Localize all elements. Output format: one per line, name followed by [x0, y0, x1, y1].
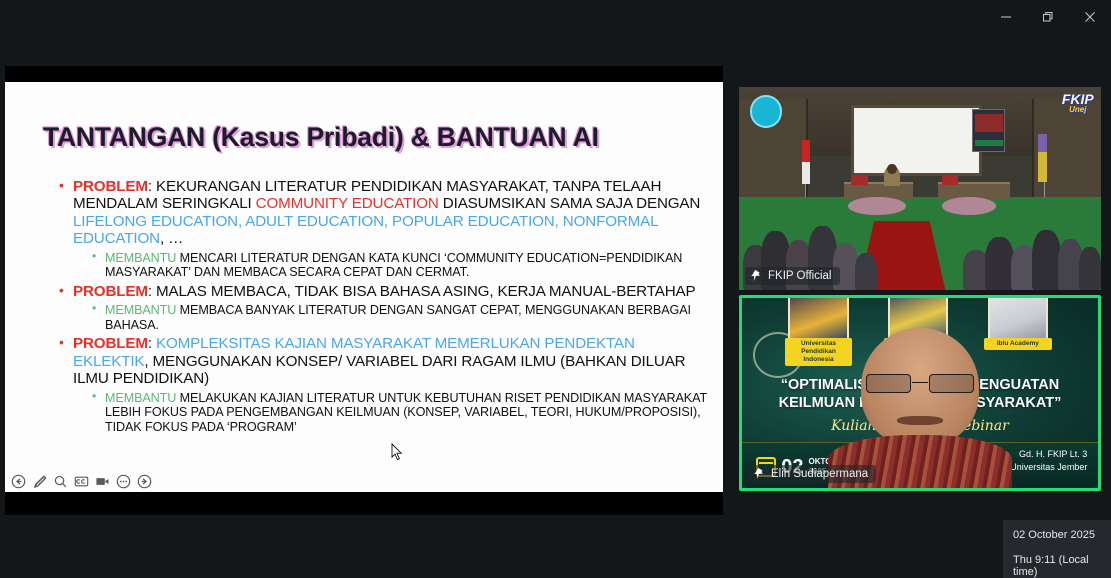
- bullet-text: : MALAS MEMBACA, TIDAK BISA BAHASA ASING…: [148, 283, 696, 300]
- bullet-text: MELAKUKAN KAJIAN LITERATUR UNTUK KEBUTUH…: [105, 391, 707, 434]
- window-title-bar: [0, 0, 1111, 33]
- close-icon: [1084, 11, 1096, 23]
- closed-caption-icon[interactable]: [73, 473, 89, 489]
- participant-name: Elih Sudiapermana: [771, 468, 868, 480]
- bullet-text: MENCARI LITERATUR DENGAN KATA KUNCI ‘COM…: [105, 251, 682, 279]
- speaker-person: [838, 298, 1002, 488]
- video-icon[interactable]: [94, 473, 110, 489]
- bullet-text: , …: [160, 230, 183, 247]
- close-button[interactable]: [1069, 0, 1111, 33]
- previous-slide-icon[interactable]: [10, 473, 26, 489]
- magnifier-icon[interactable]: [52, 473, 68, 489]
- slide-toolbar[interactable]: [10, 473, 152, 489]
- fkip-watermark-logo: FKIP Unej: [1062, 93, 1094, 113]
- bullet-text: DIASUMSIKAN SAMA SAJA DENGAN: [439, 195, 701, 212]
- participant-name: FKIP Official: [768, 270, 832, 282]
- slide-title: TANTANGAN (Kasus Pribadi) & BANTUAN AI: [43, 122, 703, 153]
- video-frame-lecture-hall: FKIP Unej: [739, 87, 1101, 290]
- keyword-membantu: MEMBANTU: [105, 303, 176, 317]
- channel-round-logo: [750, 95, 783, 127]
- keyword-membantu: MEMBANTU: [105, 251, 176, 265]
- pin-icon: [754, 467, 765, 480]
- slide-body: PROBLEM: KEKURANGAN LITERATUR PENDIDIKAN…: [57, 178, 707, 437]
- bullet-text: , MENGGUNAKAN KONSEP/ VARIABEL DARI RAGA…: [73, 353, 686, 387]
- restore-icon: [1042, 11, 1054, 23]
- clock-time: Thu 9:11 (Local time): [1013, 554, 1101, 578]
- pen-icon[interactable]: [31, 473, 47, 489]
- more-options-icon[interactable]: [115, 473, 131, 489]
- highlight-community-education: COMMUNITY EDUCATION: [256, 195, 439, 212]
- video-tile-elih-sudiapermana[interactable]: Universitas Pendidikan Indonesia Univers…: [739, 295, 1101, 491]
- keyword-problem: PROBLEM: [73, 335, 148, 352]
- participant-name-badge: FKIP Official: [745, 267, 840, 285]
- local-time-widget: 02 October 2025 Thu 9:11 (Local time): [1003, 520, 1111, 578]
- keyword-problem: PROBLEM: [73, 178, 148, 195]
- bullet-level2: MEMBANTU MELAKUKAN KAJIAN LITERATUR UNTU…: [91, 391, 707, 434]
- bullet-text: :: [148, 335, 156, 352]
- minimize-button[interactable]: [985, 0, 1027, 33]
- pin-icon: [751, 269, 762, 282]
- shared-screen-stage[interactable]: TANTANGAN (Kasus Pribadi) & BANTUAN AI P…: [5, 66, 723, 515]
- keyword-membantu: MEMBANTU: [105, 391, 176, 405]
- bullet-text: MEMBACA BANYAK LITERATUR DENGAN SANGAT C…: [105, 303, 691, 331]
- bullet-level2: MEMBANTU MEMBACA BANYAK LITERATUR DENGAN…: [91, 303, 707, 332]
- bullet-level2: MEMBANTU MENCARI LITERATUR DENGAN KATA K…: [91, 251, 707, 280]
- presentation-slide[interactable]: TANTANGAN (Kasus Pribadi) & BANTUAN AI P…: [5, 82, 723, 492]
- next-slide-icon[interactable]: [136, 473, 152, 489]
- poster-venue: Gd. H. FKIP Lt. 3 Universitas Jember: [1010, 448, 1087, 475]
- clock-date: 02 October 2025: [1013, 529, 1101, 541]
- bullet-level1: PROBLEM: MALAS MEMBACA, TIDAK BISA BAHAS…: [57, 283, 707, 300]
- restore-button[interactable]: [1027, 0, 1069, 33]
- keyword-problem: PROBLEM: [73, 283, 148, 300]
- video-frame-virtual-background: Universitas Pendidikan Indonesia Univers…: [742, 298, 1098, 488]
- video-tile-fkip-official[interactable]: FKIP Unej FKIP Official: [739, 87, 1101, 290]
- meeting-window: TANTANGAN (Kasus Pribadi) & BANTUAN AI P…: [0, 0, 1111, 578]
- bullet-level1: PROBLEM: KOMPLEKSITAS KAJIAN MASYARAKAT …: [57, 335, 707, 387]
- bullet-level1: PROBLEM: KEKURANGAN LITERATUR PENDIDIKAN…: [57, 178, 707, 248]
- minimize-icon: [1000, 11, 1012, 23]
- participant-name-badge: Elih Sudiapermana: [748, 465, 876, 483]
